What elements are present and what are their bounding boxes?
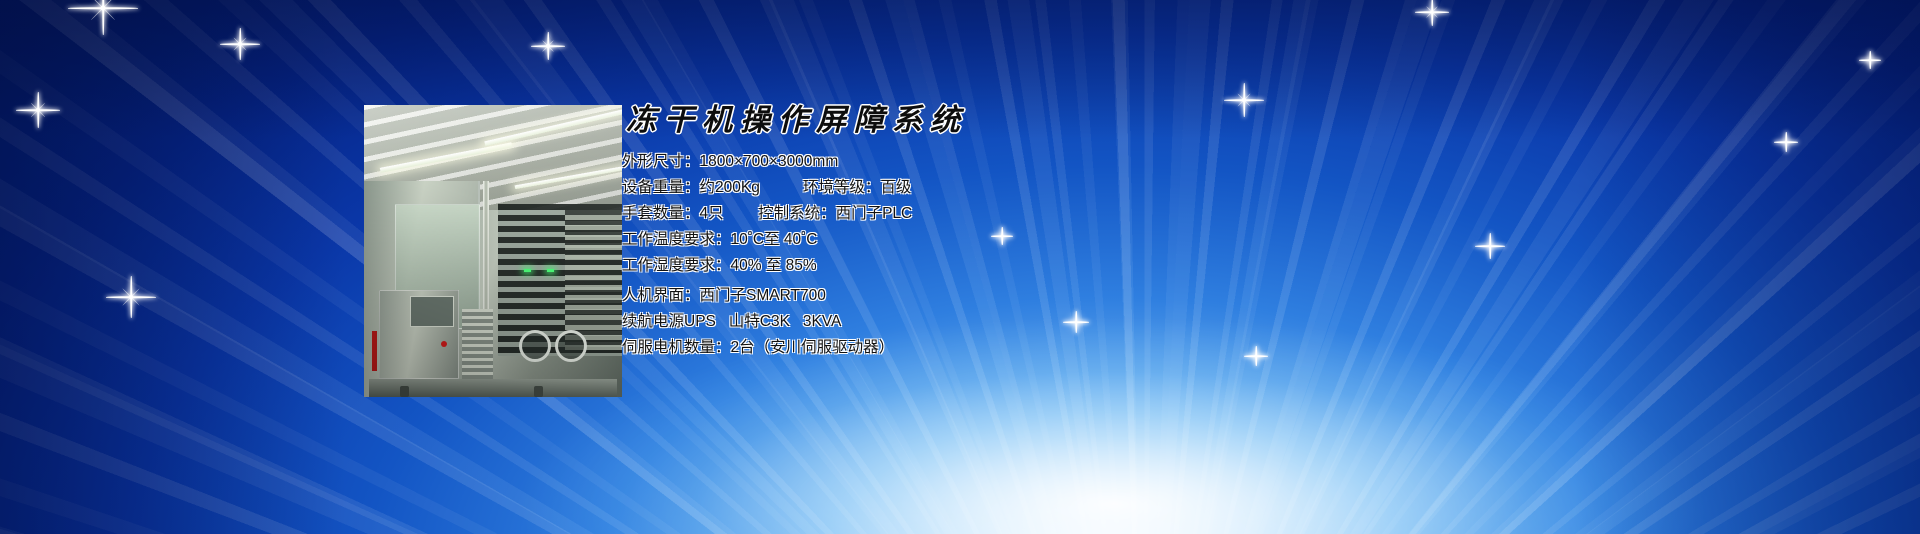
photo-lighting-overlay <box>364 105 622 397</box>
spec-line-ups: 续航电源UPS 山特C3K 3KVA <box>622 309 968 335</box>
spec-line-humidity: 工作湿度要求：40% 至 85% <box>622 253 968 279</box>
banner-text-block: 冻干机操作屏障系统 外形尺寸：1800×700×3000mm 设备重量：约200… <box>622 104 968 361</box>
product-banner: 冻干机操作屏障系统 外形尺寸：1800×700×3000mm 设备重量：约200… <box>0 0 1920 534</box>
spec-line-hmi: 人机界面：西门子SMART700 <box>622 283 968 309</box>
spec-line-temperature: 工作温度要求：10˚C至 40˚C <box>622 227 968 253</box>
spec-line-weight-class: 设备重量：约200Kg 环境等级：百级 <box>622 175 968 201</box>
spec-line-servo-motors: 伺服电机数量：2台（安川伺服驱动器） <box>622 335 968 361</box>
spec-line-dimensions: 外形尺寸：1800×700×3000mm <box>622 149 968 175</box>
spec-line-gloves-plc: 手套数量：4只 控制系统：西门子PLC <box>622 201 968 227</box>
page-title: 冻干机操作屏障系统 <box>626 104 968 137</box>
product-image <box>364 105 622 397</box>
